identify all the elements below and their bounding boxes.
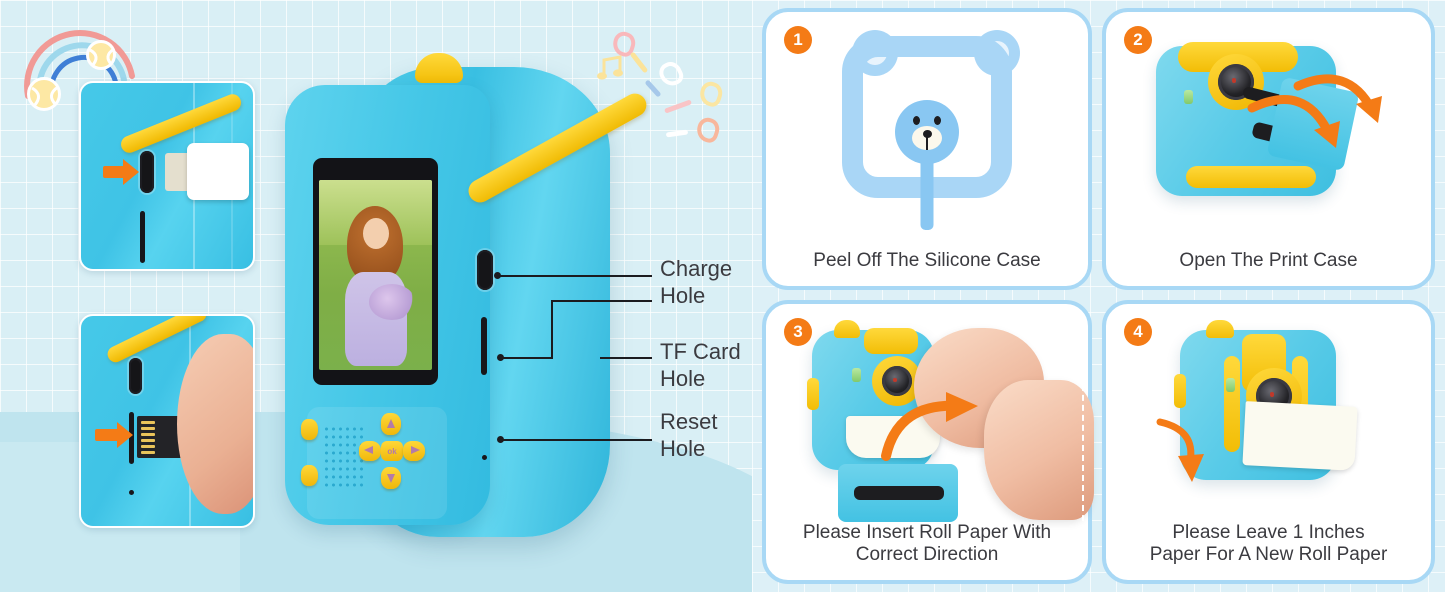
photo-subject-face [363,218,389,249]
side-button-bottom[interactable] [301,465,318,486]
step-caption-2: Open The Print Case [1120,250,1417,272]
viewfinder-indicator-4 [1226,378,1235,392]
step-1-illustration [774,28,1080,228]
callout-tf-card-hole-label: TF Card Hole [660,338,741,392]
photo-flowers [369,284,415,320]
bear-case-strap [921,158,934,230]
paper-leave-arrow [1152,410,1222,490]
insert-arrow-head-2 [117,422,133,448]
tf-card-inset [79,314,255,528]
camera-side-trim-3 [807,378,819,410]
step-3-illustration [774,320,1080,522]
step-caption-4: Please Leave 1 Inches Paper For A New Ro… [1120,522,1417,566]
inset-tf-slot [140,211,145,263]
main-tf-card-hole [481,317,487,375]
bear-face-lens-cover [895,100,959,164]
step-badge-3: 3 [784,318,812,346]
open-lid-arrow-2 [1292,68,1392,148]
insert-arrow-tail-2 [95,429,119,441]
step-card-3[interactable]: 3 [762,300,1092,584]
insert-arrow-tail [103,166,125,178]
dpad-left-button[interactable] [359,441,381,461]
step-badge-2: 2 [1124,26,1152,54]
camera-knob-3 [834,320,860,338]
step-caption-1: Peel Off The Silicone Case [780,250,1074,272]
charge-port-inset [79,81,255,271]
main-reset-hole [482,455,487,460]
printed-paper-strip [1242,401,1357,471]
viewfinder-indicator-3 [852,368,861,382]
bear-eye-right [934,116,941,125]
main-camera: ok [275,45,620,545]
step-badge-4: 4 [1124,318,1152,346]
lcd-bezel [313,158,438,385]
main-charge-hole [477,250,493,290]
callout-reset-hole-label: Reset Hole [660,408,717,462]
product-infographic: ok Charge Hole [0,0,1445,592]
step-card-1[interactable]: 1 Peel Off The Silicone Case [762,8,1092,290]
lcd-screen [319,180,432,370]
inset2-reset-hole [129,490,134,495]
viewfinder-indicator [1184,90,1193,104]
camera-handle-left [1224,356,1240,452]
shutter-knob [415,53,463,83]
camera-front-shell: ok [285,85,490,525]
ok-button[interactable]: ok [381,441,403,461]
step-caption-3: Please Insert Roll Paper With Correct Di… [780,522,1074,566]
control-pad: ok [307,407,447,519]
tray-roller [854,486,944,500]
side-button-top[interactable] [301,419,318,440]
step-card-4[interactable]: 4 Please Leave [1102,300,1435,584]
camera-side-trim-4 [1174,374,1186,408]
callout-charge-hole-label: Charge Hole [660,255,732,309]
left-feature-pane: ok Charge Hole [0,0,752,592]
dpad-down-button[interactable] [381,467,401,489]
step-card-2[interactable]: 2 [1102,8,1435,290]
step-badge-1: 1 [784,26,812,54]
usb-c-port [140,151,154,193]
ball-doodle-right [86,40,116,70]
usb-c-plug-housing [187,143,249,200]
step-2-illustration [1114,28,1423,228]
bear-mouth [926,136,928,150]
dpad-right-button[interactable] [403,441,425,461]
camera-knob-4 [1206,320,1234,338]
paper-direction-arrow [868,390,988,470]
step-4-illustration [1114,320,1423,522]
forearm [984,380,1094,520]
ball-doodle-left [27,77,61,111]
inset2-usb-port [129,358,142,394]
right-steps-pane: 1 Peel Off The Silicone Case 2 [752,0,1445,592]
insert-arrow-head [123,159,139,185]
bear-eye-left [913,116,920,125]
camera-strap-3 [864,328,918,354]
dpad-up-button[interactable] [381,413,401,435]
